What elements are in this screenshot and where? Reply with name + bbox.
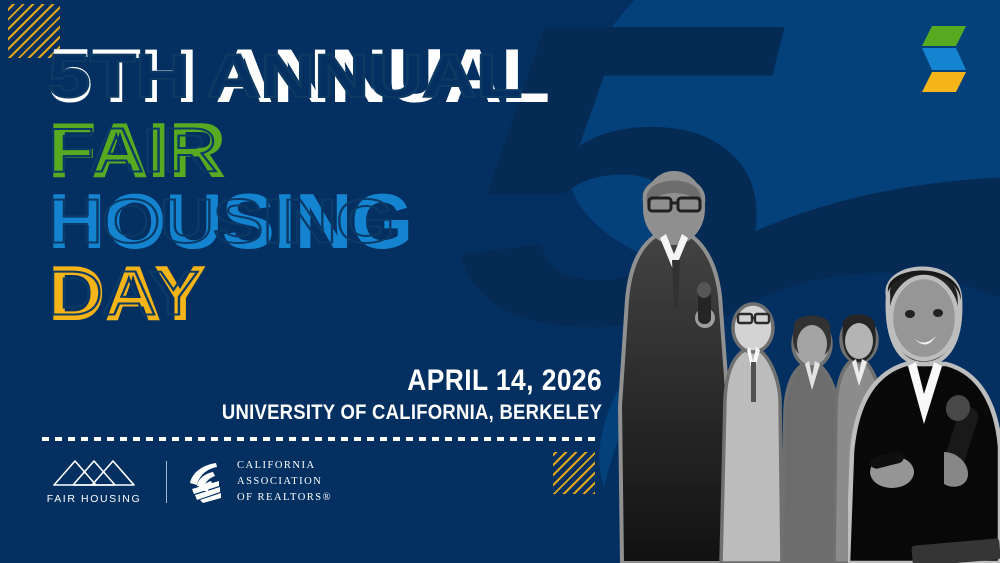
headline-line-day-wrap: DAY DAY <box>48 260 680 327</box>
tri-bar-chevron-logo <box>920 26 974 92</box>
headline-line-annual-wrap: 5TH ANNUAL 5TH ANNUAL <box>48 44 705 109</box>
fair-housing-day-poster: 5 <box>0 0 1000 563</box>
lockup-divider <box>166 461 167 503</box>
logo-lockup: FAIR HOUSING CALIFORNIA ASSOCIATION OF R… <box>44 458 332 506</box>
headline-line-day: DAY <box>48 249 206 337</box>
car-wordmark: CALIFORNIA ASSOCIATION OF REALTORS® <box>237 458 332 506</box>
foreground-speaker-figure <box>848 256 1000 563</box>
dashed-divider <box>42 437 595 441</box>
event-venue: UNIVERSITY OF CALIFORNIA, BERKELEY <box>222 401 602 425</box>
car-shell-emblem-icon <box>186 461 226 503</box>
car-line-1: CALIFORNIA <box>237 458 332 474</box>
headline-line-fair-wrap: FAIR FAIR <box>48 117 680 184</box>
photo-foreground-speaker-woman <box>848 256 1000 563</box>
fair-housing-label: FAIR HOUSING <box>47 493 141 505</box>
car-line-3: OF REALTORS® <box>237 490 332 506</box>
california-association-of-realtors-logo: CALIFORNIA ASSOCIATION OF REALTORS® <box>186 458 332 506</box>
three-peaks-roof-icon <box>51 458 137 488</box>
gold-hatch-square-middle <box>553 452 595 494</box>
headline-line-housing-wrap: HOUSING HOUSING <box>48 188 680 255</box>
car-line-2: ASSOCIATION <box>237 474 332 490</box>
event-date: APRIL 14, 2026 <box>222 364 602 398</box>
headline-block: 5TH ANNUAL 5TH ANNUAL FAIR FAIR HOUSING … <box>48 44 668 327</box>
event-info-block: APRIL 14, 2026 UNIVERSITY OF CALIFORNIA,… <box>170 364 602 425</box>
fair-housing-logo: FAIR HOUSING <box>44 458 144 505</box>
